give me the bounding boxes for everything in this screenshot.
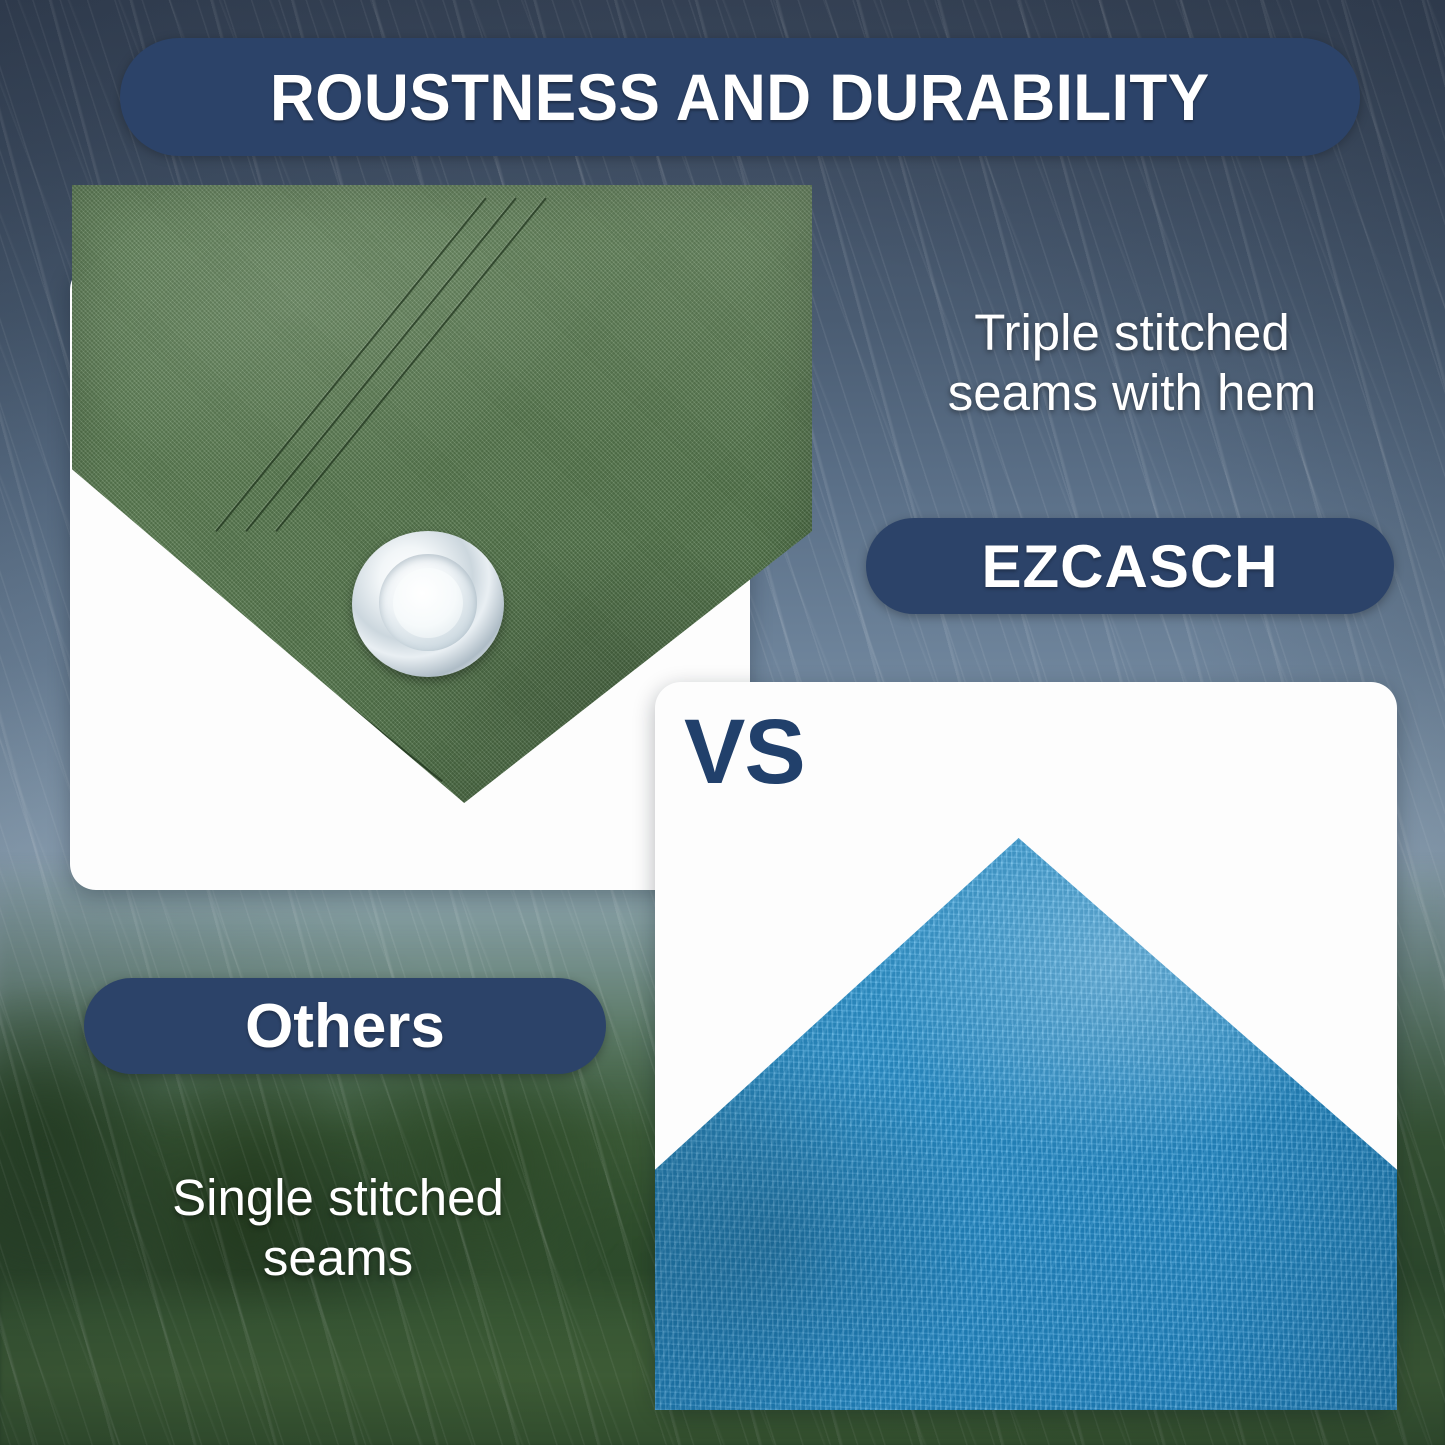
others-feature-caption: Single stitched seams [78,1168,598,1288]
title-banner: ROUSTNESS AND DURABILITY [120,38,1360,156]
ezcasch-brand-label: EZCASCH [981,532,1278,601]
ezcasch-feature-caption: Triple stitched seams with hem [862,303,1402,423]
versus-label: VS [684,700,805,805]
page-title: ROUSTNESS AND DURABILITY [270,59,1210,135]
metal-grommet-icon [352,531,504,677]
ezcasch-brand-badge: EZCASCH [866,518,1394,614]
others-badge: Others [84,978,606,1074]
product-comparison-infographic: ROUSTNESS AND DURABILITY VS Triple stitc… [0,0,1445,1445]
others-label: Others [245,991,445,1062]
